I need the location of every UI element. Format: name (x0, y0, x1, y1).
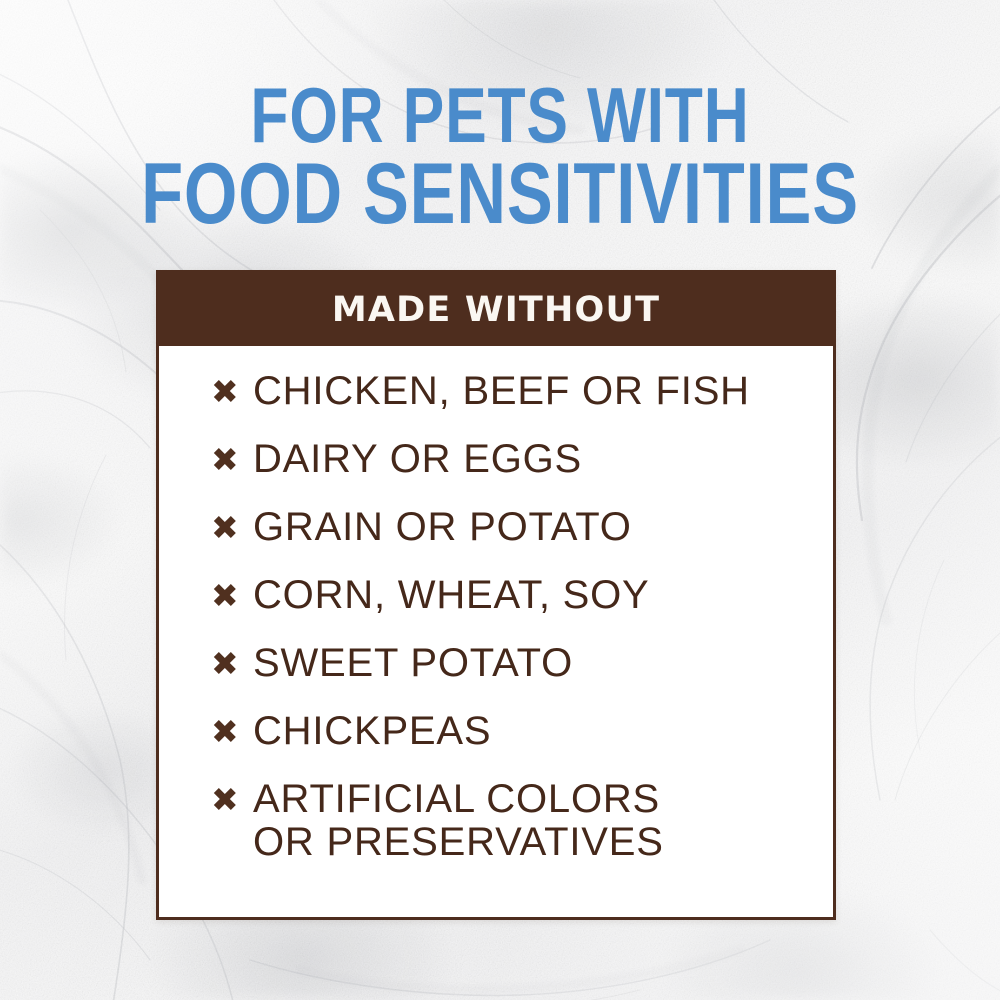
made-without-card: MADE WITHOUT ✖ CHICKEN, BEEF OR FISH ✖ D… (156, 270, 836, 920)
list-item: ✖ CORN, WHEAT, SOY (211, 574, 833, 617)
headline: FOR PETS WITH FOOD SENSITIVITIES (0, 78, 1000, 236)
cross-icon: ✖ (211, 574, 253, 617)
card-header-title: MADE WITHOUT (332, 290, 660, 330)
cross-icon: ✖ (211, 642, 253, 685)
cross-icon: ✖ (211, 438, 253, 481)
cross-icon: ✖ (211, 370, 253, 413)
list-item-label: CORN, WHEAT, SOY (253, 574, 650, 617)
cross-icon: ✖ (211, 506, 253, 549)
list-item: ✖ CHICKPEAS (211, 710, 833, 753)
list-item-label: GRAIN OR POTATO (253, 506, 632, 549)
cross-icon: ✖ (211, 710, 253, 753)
made-without-list: ✖ CHICKEN, BEEF OR FISH ✖ DAIRY OR EGGS … (159, 370, 833, 864)
list-item-label: CHICKPEAS (253, 710, 491, 753)
list-item-label: SWEET POTATO (253, 642, 573, 685)
list-item: ✖ DAIRY OR EGGS (211, 438, 833, 481)
list-item: ✖ CHICKEN, BEEF OR FISH (211, 370, 833, 413)
list-item: ✖ SWEET POTATO (211, 642, 833, 685)
list-item: ✖ GRAIN OR POTATO (211, 506, 833, 549)
product-claims-poster: FOR PETS WITH FOOD SENSITIVITIES MADE WI… (0, 0, 1000, 1000)
headline-line-1: FOR PETS WITH (100, 78, 900, 152)
card-body: ✖ CHICKEN, BEEF OR FISH ✖ DAIRY OR EGGS … (159, 346, 833, 864)
headline-line-2: FOOD SENSITIVITIES (100, 154, 900, 236)
card-header-band: MADE WITHOUT (159, 273, 833, 346)
list-item-label: DAIRY OR EGGS (253, 438, 582, 481)
list-item: ✖ ARTIFICIAL COLORS OR PRESERVATIVES (211, 778, 833, 864)
list-item-label: CHICKEN, BEEF OR FISH (253, 370, 750, 413)
cross-icon: ✖ (211, 778, 253, 821)
list-item-label: ARTIFICIAL COLORS OR PRESERVATIVES (253, 778, 664, 864)
